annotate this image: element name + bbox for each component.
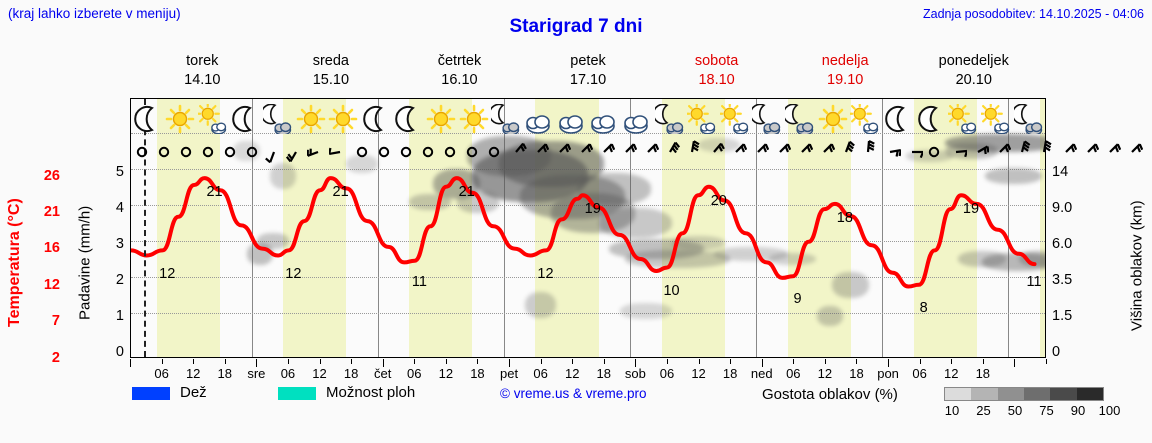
x-tick — [225, 359, 226, 364]
x-axis-label: 18 — [344, 366, 358, 381]
x-tick — [446, 359, 447, 364]
precipitation-tick: 0 — [96, 344, 124, 360]
temperature-label: 12 — [285, 266, 301, 282]
weather-icon-sun-cloud — [196, 99, 229, 139]
weather-icon-sun — [457, 99, 490, 139]
wind-barb — [175, 139, 197, 165]
weather-icon-moon — [131, 99, 164, 139]
day-header-četrtek: četrtek16.10 — [395, 52, 524, 92]
wind-barb — [549, 139, 571, 165]
x-tick — [288, 359, 289, 364]
wind-barb — [659, 139, 681, 165]
x-axis-label: 06 — [154, 366, 168, 381]
wind-barb — [1055, 139, 1077, 165]
wind-barb — [219, 139, 241, 165]
day-name: torek — [138, 52, 267, 71]
x-axis-label: 12 — [944, 366, 958, 381]
x-axis-label: 06 — [533, 366, 547, 381]
x-axis-label: 18 — [218, 366, 232, 381]
day-name: četrtek — [395, 52, 524, 71]
temperature-label: 8 — [920, 300, 928, 316]
day-header-sobota: sobota18.10 — [652, 52, 781, 92]
day-date: 18.10 — [652, 71, 781, 90]
cloud-density-ramp-step — [1024, 388, 1050, 400]
day-header-torek: torek14.10 — [138, 52, 267, 92]
wind-barb — [725, 139, 747, 165]
precipitation-axis-title: Padavine (mm/h) — [72, 168, 98, 358]
x-tick — [699, 359, 700, 364]
wind-barb — [527, 139, 549, 165]
x-tick — [193, 359, 194, 364]
temperature-label: 11 — [1026, 274, 1041, 290]
x-axis-label: 12 — [691, 366, 705, 381]
x-axis-label: 06 — [407, 366, 421, 381]
copyright-link[interactable]: © vreme.us & vreme.pro — [500, 386, 647, 401]
cloud-density-ramp-label: 50 — [1008, 403, 1022, 418]
wind-barb — [769, 139, 791, 165]
rain-legend-swatch — [132, 387, 170, 400]
wind-barb — [879, 139, 901, 165]
x-axis-label: 12 — [818, 366, 832, 381]
x-tick — [667, 359, 668, 364]
temperature-label: 19 — [963, 201, 979, 217]
weather-icon-moon — [914, 99, 947, 139]
weather-icon-sun — [327, 99, 360, 139]
wind-barb — [263, 139, 285, 165]
x-tick — [825, 359, 826, 364]
cloud-density-ramp-label: 100 — [1099, 403, 1121, 418]
temperature-label: 19 — [585, 201, 601, 217]
x-axis-label: ned — [751, 366, 773, 381]
day-name: sreda — [267, 52, 396, 71]
temperature-tick: 7 — [28, 313, 60, 329]
wind-barb — [1143, 139, 1152, 165]
day-date: 20.10 — [909, 71, 1038, 90]
day-header-row: torek14.10sreda15.10četrtek16.10petek17.… — [138, 52, 1038, 92]
x-axis-label: sob — [625, 366, 646, 381]
precipitation-tick: 4 — [96, 200, 124, 216]
x-tick — [730, 359, 731, 364]
weather-icon-moon-cloud — [653, 99, 686, 139]
precipitation-tick: 2 — [96, 272, 124, 288]
chart-legend: Dež Možnost ploh © vreme.us & vreme.pro … — [0, 386, 1152, 432]
day-date: 19.10 — [781, 71, 910, 90]
x-axis-label: 12 — [186, 366, 200, 381]
showers-legend-swatch — [278, 387, 316, 400]
temperature-label: 9 — [794, 291, 802, 307]
x-axis-label: sre — [247, 366, 265, 381]
day-date: 14.10 — [138, 71, 267, 90]
precipitation-tick: 5 — [96, 164, 124, 180]
last-update-text: Zadnja posodobitev: 14.10.2025 - 04:06 — [923, 7, 1144, 21]
x-axis-label: 06 — [281, 366, 295, 381]
weather-icon-sun-cloud — [980, 99, 1013, 139]
wind-barb — [1121, 139, 1143, 165]
cloud-density-ramp-label: 90 — [1071, 403, 1085, 418]
precipitation-tick: 1 — [96, 308, 124, 324]
x-axis-label: pet — [500, 366, 518, 381]
wind-barb — [901, 139, 923, 165]
wind-barb — [131, 139, 153, 165]
x-axis-label: 18 — [976, 366, 990, 381]
wind-barb — [791, 139, 813, 165]
cloud-density-ramp-labels: 1025507590100 — [940, 403, 1120, 419]
weather-icon-sun — [425, 99, 458, 139]
wind-barb — [703, 139, 725, 165]
wind-barb — [1077, 139, 1099, 165]
temperature-tick: 21 — [28, 204, 60, 220]
wind-barb — [241, 139, 263, 165]
weather-icon-cloud — [555, 99, 588, 139]
weather-icon-sun-cloud — [719, 99, 752, 139]
cloud-density-ramp-label: 75 — [1039, 403, 1053, 418]
x-tick — [477, 359, 478, 364]
wind-barb — [681, 139, 703, 165]
wind-barb — [923, 139, 945, 165]
temperature-label: 18 — [837, 210, 853, 226]
showers-legend-label: Možnost ploh — [326, 384, 415, 401]
weather-icon-moon — [882, 99, 915, 139]
weather-icon-sun-cloud — [849, 99, 882, 139]
temperature-label: 21 — [333, 184, 349, 200]
x-axis-label: 12 — [439, 366, 453, 381]
wind-barb — [813, 139, 835, 165]
cloud-density-color-ramp — [944, 387, 1104, 401]
x-axis-label: pon — [877, 366, 899, 381]
wind-barb — [417, 139, 439, 165]
cloud-density-legend-title: Gostota oblakov (%) — [762, 386, 898, 403]
x-axis-label: 06 — [912, 366, 926, 381]
wind-barb — [197, 139, 219, 165]
weather-icon-cloud — [588, 99, 621, 139]
x-tick — [320, 359, 321, 364]
x-tick — [604, 359, 605, 364]
temperature-tick: 12 — [28, 277, 60, 293]
wind-barb — [373, 139, 395, 165]
x-tick — [1046, 359, 1047, 364]
cloud-height-tick: 0 — [1052, 344, 1096, 360]
x-tick — [951, 359, 952, 364]
cloud-height-tick: 1.5 — [1052, 308, 1096, 324]
x-axis-label: 18 — [597, 366, 611, 381]
weather-icon-moon — [229, 99, 262, 139]
temperature-label: 10 — [663, 283, 679, 299]
day-name: sobota — [652, 52, 781, 71]
wind-barb-row — [131, 139, 1045, 165]
weather-icon-moon-cloud — [262, 99, 295, 139]
wind-barb — [461, 139, 483, 165]
weather-icon-moon-cloud — [490, 99, 523, 139]
temperature-label: 20 — [711, 193, 727, 209]
wind-barb — [945, 139, 967, 165]
weather-icon-cloud — [523, 99, 556, 139]
cloud-density-ramp-step — [945, 388, 971, 400]
wind-barb — [483, 139, 505, 165]
cloud-density-ramp-step — [971, 388, 997, 400]
day-header-nedelja: nedelja19.10 — [781, 52, 910, 92]
x-tick — [920, 359, 921, 364]
wind-barb — [637, 139, 659, 165]
cloud-height-axis-title: Višina oblakov (km) — [1124, 168, 1150, 363]
wind-barb — [1011, 139, 1033, 165]
temperature-tick: 26 — [28, 168, 60, 184]
weather-icon-cloud — [621, 99, 654, 139]
x-tick — [572, 359, 573, 364]
temperature-label: 11 — [412, 274, 427, 290]
temperature-label: 12 — [537, 266, 553, 282]
day-header-ponedeljek: ponedeljek20.10 — [909, 52, 1038, 92]
wind-barb — [153, 139, 175, 165]
wind-barb — [857, 139, 879, 165]
weather-icon-moon-cloud — [1012, 99, 1045, 139]
day-name: ponedeljek — [909, 52, 1038, 71]
day-date: 16.10 — [395, 71, 524, 90]
day-name: petek — [524, 52, 653, 71]
wind-barb — [747, 139, 769, 165]
precipitation-tick: 3 — [96, 236, 124, 252]
temperature-tick: 16 — [28, 240, 60, 256]
weather-icon-sun — [164, 99, 197, 139]
cloud-height-tick: 6.0 — [1052, 236, 1096, 252]
rain-legend-label: Dež — [180, 384, 207, 401]
cloud-density-ramp-step — [998, 388, 1024, 400]
x-tick — [983, 359, 984, 364]
weather-icon-moon — [392, 99, 425, 139]
temperature-label: 21 — [206, 184, 222, 200]
wind-barb — [615, 139, 637, 165]
wind-barb — [329, 139, 351, 165]
wind-barb — [395, 139, 417, 165]
temperature-label: 12 — [159, 266, 175, 282]
x-tick — [541, 359, 542, 364]
day-date: 17.10 — [524, 71, 653, 90]
temperature-axis-title: Temperatura (°C) — [2, 175, 28, 350]
wind-barb — [835, 139, 857, 165]
x-tick — [414, 359, 415, 364]
cloud-height-tick: 9.0 — [1052, 200, 1096, 216]
x-axis-label: 18 — [849, 366, 863, 381]
wind-barb — [285, 139, 307, 165]
cloud-density-ramp-step — [1050, 388, 1076, 400]
day-date: 15.10 — [267, 71, 396, 90]
temperature-tick: 2 — [28, 350, 60, 366]
x-axis-label: 12 — [312, 366, 326, 381]
weather-icon-sun-cloud — [686, 99, 719, 139]
cloud-height-tick: 14 — [1052, 164, 1096, 180]
weather-icon-moon-cloud — [784, 99, 817, 139]
x-axis-label: 18 — [470, 366, 484, 381]
wind-barb — [307, 139, 329, 165]
x-tick — [856, 359, 857, 364]
wind-barb — [967, 139, 989, 165]
cloud-density-ramp-step — [1077, 388, 1103, 400]
weather-icon-sun — [294, 99, 327, 139]
x-axis-label: 18 — [723, 366, 737, 381]
day-name: nedelja — [781, 52, 910, 71]
x-axis-label: 06 — [786, 366, 800, 381]
x-tick — [162, 359, 163, 364]
cloud-density-ramp-label: 10 — [945, 403, 959, 418]
weather-icon-moon-cloud — [751, 99, 784, 139]
wind-barb — [439, 139, 461, 165]
x-axis-label: čet — [374, 366, 391, 381]
weather-icon-row — [131, 99, 1045, 139]
wind-barb — [593, 139, 615, 165]
day-header-petek: petek17.10 — [524, 52, 653, 92]
wind-barb — [1033, 139, 1055, 165]
x-axis-label: 06 — [660, 366, 674, 381]
x-axis-label: 12 — [565, 366, 579, 381]
weather-icon-moon — [359, 99, 392, 139]
weather-icon-sun-cloud — [947, 99, 980, 139]
wind-barb — [351, 139, 373, 165]
x-tick — [351, 359, 352, 364]
temperature-label: 21 — [459, 184, 475, 200]
day-header-sreda: sreda15.10 — [267, 52, 396, 92]
wind-barb — [571, 139, 593, 165]
x-tick — [793, 359, 794, 364]
cloud-height-tick: 3.5 — [1052, 272, 1096, 288]
cloud-density-ramp-label: 25 — [976, 403, 990, 418]
weather-icon-sun — [816, 99, 849, 139]
x-axis-labels: 061218sre061218čet061218pet061218sob0612… — [130, 366, 1046, 382]
wind-barb — [1099, 139, 1121, 165]
wind-barb — [505, 139, 527, 165]
wind-barb — [989, 139, 1011, 165]
